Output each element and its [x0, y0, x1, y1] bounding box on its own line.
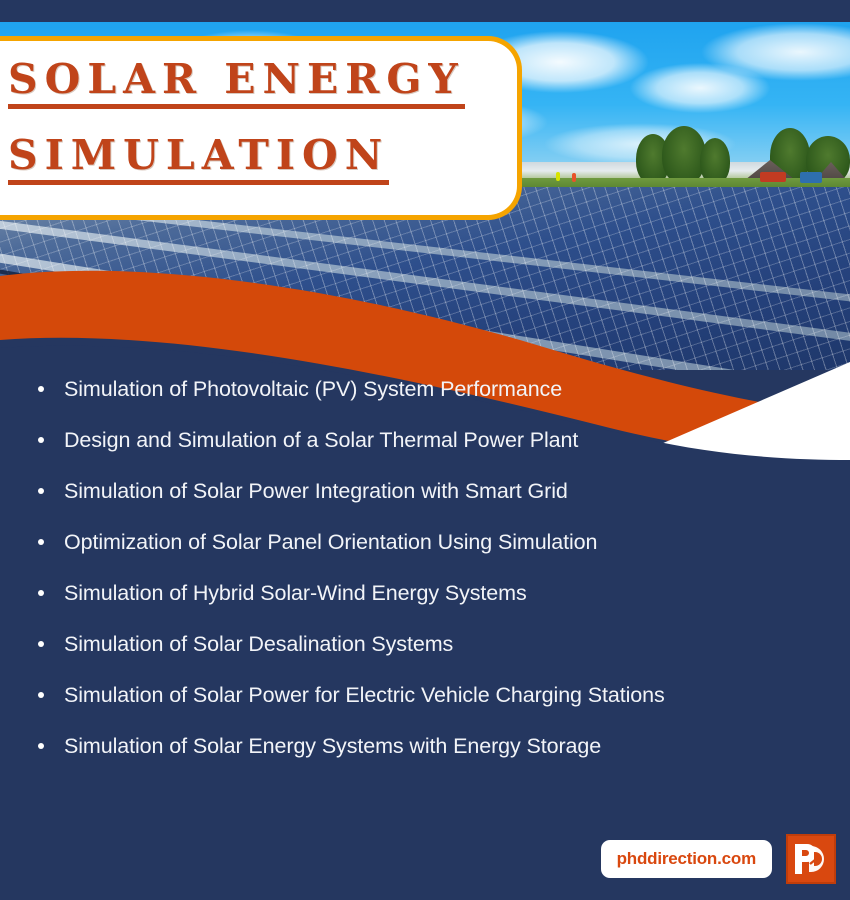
pd-monogram-icon[interactable] — [786, 834, 836, 884]
vehicle-icon — [800, 172, 822, 183]
website-badge[interactable]: phddirection.com — [601, 840, 772, 878]
list-item: Simulation of Hybrid Solar-Wind Energy S… — [30, 578, 780, 608]
worker-icon — [572, 173, 576, 182]
topic-list: Simulation of Photovoltaic (PV) System P… — [0, 374, 850, 782]
list-item: Simulation of Solar Power Integration wi… — [30, 476, 780, 506]
list-item: Optimization of Solar Panel Orientation … — [30, 527, 780, 557]
list-item: Simulation of Photovoltaic (PV) System P… — [30, 374, 780, 404]
footer-bar: phddirection.com — [601, 834, 836, 884]
list-item: Simulation of Solar Energy Systems with … — [30, 731, 780, 761]
list-item: Simulation of Solar Desalination Systems — [30, 629, 780, 659]
title-card: Solar Energy Simulation — [0, 36, 522, 220]
page-title-line-2: Simulation — [8, 135, 389, 185]
vehicle-icon — [760, 172, 786, 182]
worker-icon — [556, 172, 560, 181]
list-item: Simulation of Solar Power for Electric V… — [30, 680, 780, 710]
list-item: Design and Simulation of a Solar Thermal… — [30, 425, 780, 455]
page-title-line-1: Solar Energy — [8, 59, 465, 109]
top-navy-strip — [0, 0, 850, 22]
poster-canvas: Solar Energy Simulation Simulation of Ph… — [0, 0, 850, 900]
